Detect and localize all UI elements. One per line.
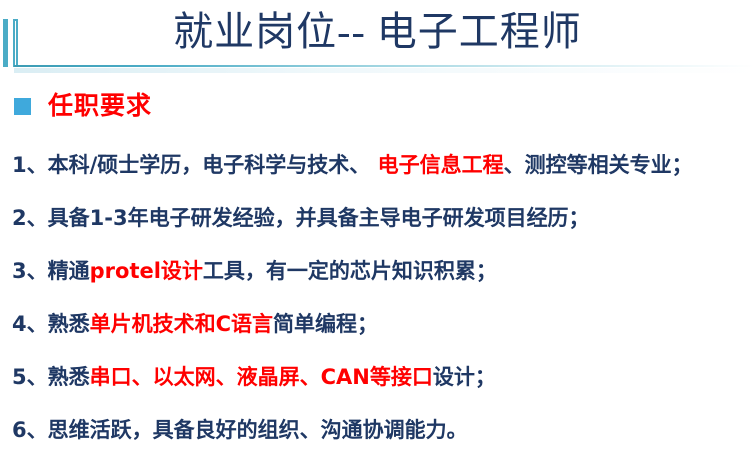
requirement-text-highlight: protel设计 — [90, 259, 203, 283]
title-band: 就业岗位-- 电子工程师 — [0, 0, 755, 72]
requirement-text: 简单编程； — [273, 312, 378, 336]
requirement-number: 5、 — [12, 365, 48, 389]
requirement-number: 3、 — [12, 259, 48, 283]
requirement-text: 熟悉 — [48, 312, 90, 336]
requirement-text-highlight: 串口、以太网、液晶屏、CAN等接口 — [90, 365, 433, 389]
section-heading: 任职要求 — [14, 92, 152, 120]
requirement-number: 6、 — [12, 418, 48, 442]
requirement-text: 熟悉 — [48, 365, 90, 389]
requirement-number: 2、 — [12, 206, 48, 230]
requirement-number: 4、 — [12, 312, 48, 336]
requirement-number: 1、 — [12, 153, 48, 177]
requirement-text: 设计； — [433, 365, 496, 389]
requirement-text: 本科/硕士学历，电子科学与技术、 — [48, 153, 378, 177]
title-divider-glow — [14, 68, 755, 73]
requirement-text-highlight: 电子信息工程 — [378, 153, 504, 177]
requirements-list: 1、本科/硕士学历，电子科学与技术、 电子信息工程、测控等相关专业；2、具备1-… — [12, 152, 754, 444]
requirement-item: 2、具备1-3年电子研发经验，并具备主导电子研发项目经历； — [12, 205, 754, 232]
requirement-item: 5、熟悉串口、以太网、液晶屏、CAN等接口设计； — [12, 364, 754, 391]
requirement-text: 精通 — [48, 259, 90, 283]
requirement-text: 具备1-3年电子研发经验，并具备主导电子研发项目经历； — [48, 206, 590, 230]
requirement-text: 、测控等相关专业； — [504, 153, 693, 177]
requirement-item: 4、熟悉单片机技术和C语言简单编程； — [12, 311, 754, 338]
requirement-item: 1、本科/硕士学历，电子科学与技术、 电子信息工程、测控等相关专业； — [12, 152, 754, 179]
requirement-text: 思维活跃，具备良好的组织、沟通协调能力。 — [48, 418, 468, 442]
title-divider — [14, 65, 755, 67]
slide-root: 就业岗位-- 电子工程师 任职要求 1、本科/硕士学历，电子科学与技术、 电子信… — [0, 0, 755, 469]
square-bullet-icon — [14, 98, 31, 115]
requirement-text: 工具，有一定的芯片知识积累； — [203, 259, 497, 283]
requirement-text-highlight: 单片机技术和C语言 — [90, 312, 273, 336]
page-title: 就业岗位-- 电子工程师 — [0, 6, 755, 58]
section-heading-label: 任职要求 — [48, 92, 152, 120]
requirement-item: 6、思维活跃，具备良好的组织、沟通协调能力。 — [12, 417, 754, 444]
requirement-item: 3、精通protel设计工具，有一定的芯片知识积累； — [12, 258, 754, 285]
